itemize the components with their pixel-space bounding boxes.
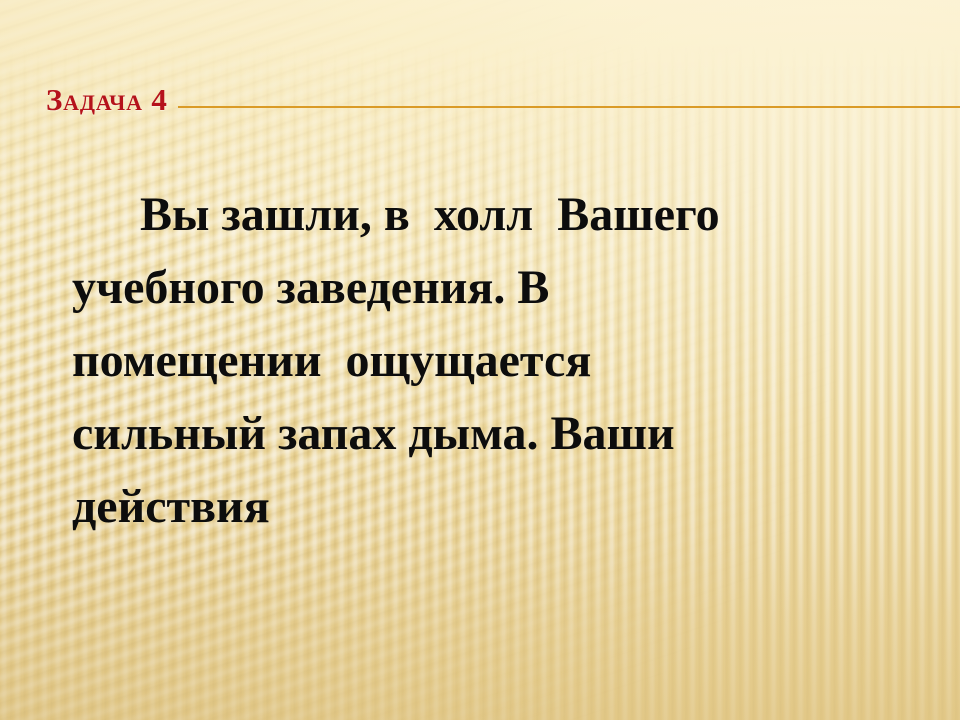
slide-title: Задача 4 (46, 84, 168, 115)
slide-body: Вы зашли, в холл Вашего учебного заведен… (72, 178, 928, 543)
slide-title-row: Задача 4 (46, 72, 960, 114)
body-line-2: учебного заведения. В (72, 251, 928, 324)
body-line-1: Вы зашли, в холл Вашего (72, 178, 928, 251)
presentation-slide: Задача 4 Вы зашли, в холл Вашего учебног… (0, 0, 960, 720)
body-line-3: помещении ощущается (72, 324, 928, 397)
body-line-5: действия (72, 470, 928, 543)
title-divider-rule (178, 106, 960, 108)
body-line-4: сильный запах дыма. Ваши (72, 397, 928, 470)
